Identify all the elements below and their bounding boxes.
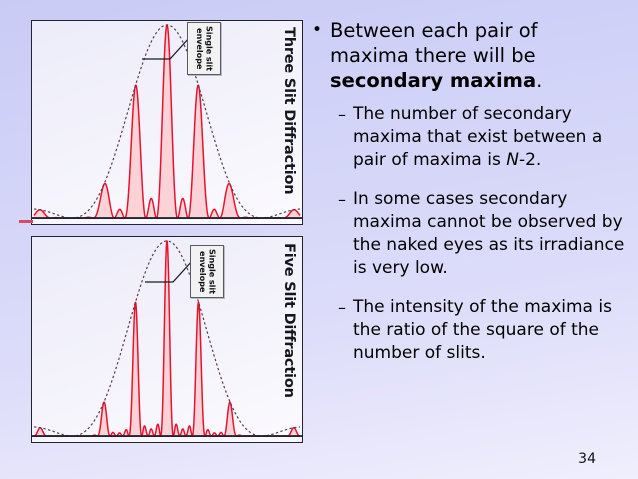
sub-bullet-item-1: – The number of secondary maxima that ex…	[312, 103, 628, 172]
sub1-italic-n: N	[506, 150, 519, 170]
intensity-curve-fill	[34, 25, 300, 218]
chart-three-slit-diffraction: Three Slit Diffraction	[31, 20, 303, 225]
primary-line-a: Between each pair of	[330, 19, 538, 42]
intensity-curve-fill	[34, 241, 300, 436]
callout-label-three: Single slit envelope	[195, 26, 214, 71]
bullet-primary-text: Between each pair of maxima there will b…	[330, 18, 628, 93]
sub1-post: -2.	[519, 150, 541, 170]
sub-bullet-item-2: – In some cases secondary maxima cannot …	[312, 188, 628, 280]
callout-single-slit-envelope-five: Single slit envelope	[190, 245, 224, 298]
dash-glyph-icon-3: –	[338, 296, 353, 319]
callout-label-five: Single slit envelope	[198, 249, 217, 294]
three-slit-diffraction-plot	[32, 21, 302, 224]
five-slit-diffraction-plot	[32, 237, 302, 442]
page-number: 34	[578, 451, 596, 467]
sub2-pre: In some cases secondary maxima cannot be…	[353, 189, 624, 278]
callout-single-slit-envelope-three: Single slit envelope	[187, 22, 221, 75]
sub-bullet-list: – The number of secondary maxima that ex…	[312, 103, 628, 365]
sub-bullet-item-3: – The intensity of the maxima is the rat…	[312, 296, 628, 365]
bullet-glyph-icon: •	[312, 18, 330, 43]
slide-canvas: Three Slit Diffraction Single slit envel…	[0, 0, 638, 479]
primary-bold-term: secondary maxima	[330, 69, 536, 92]
bullet-item-primary: • Between each pair of maxima there will…	[312, 18, 628, 93]
sub-bullet-text-3: The intensity of the maxima is the ratio…	[353, 296, 628, 365]
primary-line-b: maxima there will be	[330, 44, 536, 67]
chart-five-slit-diffraction: Five Slit Diffraction	[31, 236, 303, 443]
baseline-stub-marker	[19, 220, 33, 223]
sub1-pre: The number of secondary maxima that exis…	[353, 104, 602, 170]
primary-period: .	[536, 69, 542, 92]
slide-text-column: • Between each pair of maxima there will…	[312, 18, 628, 458]
dash-glyph-icon-2: –	[338, 188, 353, 211]
dash-glyph-icon-1: –	[338, 103, 353, 126]
sub-bullet-text-1: The number of secondary maxima that exis…	[353, 103, 628, 172]
sub3-pre: The intensity of the maxima is the ratio…	[353, 297, 612, 363]
sub-bullet-text-2: In some cases secondary maxima cannot be…	[353, 188, 628, 280]
